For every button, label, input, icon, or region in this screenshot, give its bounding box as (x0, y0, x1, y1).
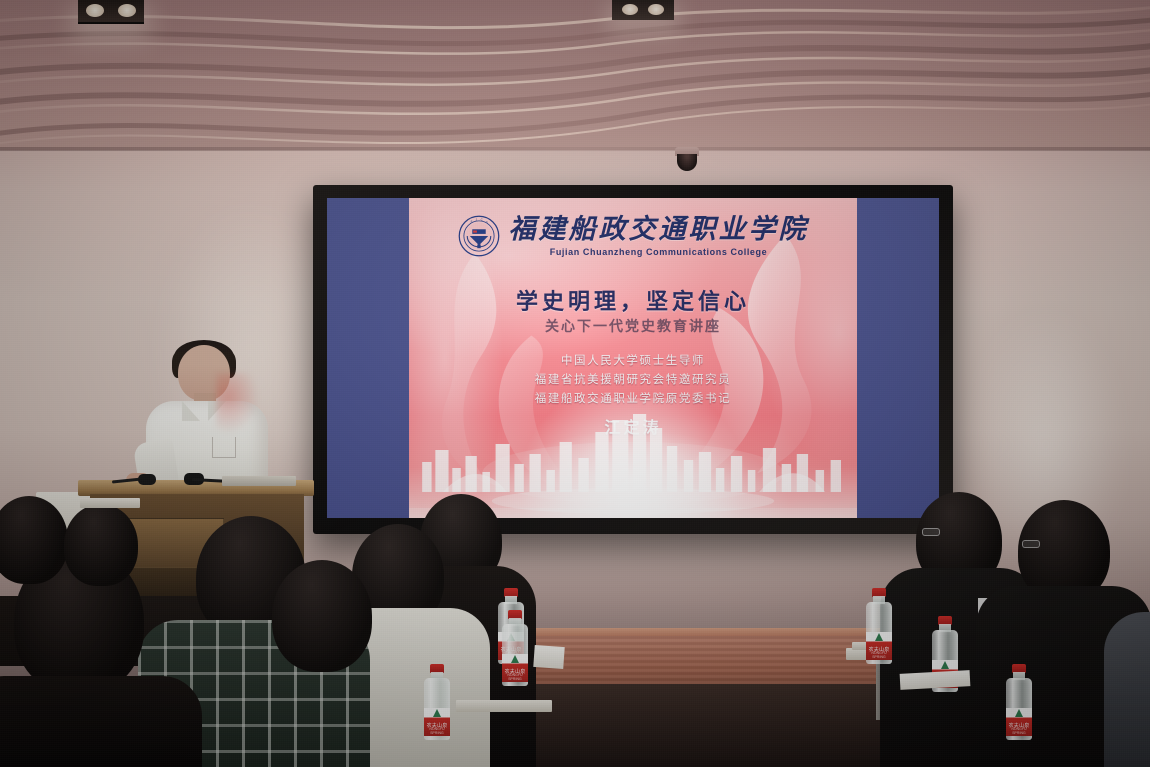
bottle-label: 农夫山泉 NONGFU SPRING (1006, 708, 1032, 736)
svg-text:F: F (470, 220, 472, 224)
presenter-collar-left (182, 401, 200, 421)
svg-text:C: C (480, 217, 482, 221)
bottle-label: 农夫山泉 NONGFU SPRING (424, 708, 450, 736)
college-name-english: Fujian Chuanzheng Communications College (550, 247, 768, 257)
svg-text:C: C (485, 220, 487, 224)
presentation-slide: FJ CC 福建船政交通职业学院 Fujian Chuanzheng Commu… (409, 198, 857, 518)
eyeglasses-icon (922, 528, 940, 536)
screen-surface: FJ CC 福建船政交通职业学院 Fujian Chuanzheng Commu… (327, 198, 939, 518)
water-bottle: 农夫山泉 NONGFU SPRING (424, 664, 450, 740)
mic-head (138, 474, 156, 485)
slide-main-title: 学史明理，坚定信心 (409, 284, 857, 316)
attendee-torso (0, 676, 202, 767)
camera-dome (677, 154, 697, 171)
laptop-on-lectern (222, 476, 296, 486)
attendee-head (64, 504, 138, 586)
gooseneck-microphone-icon (112, 474, 158, 486)
water-bottle: 农夫山泉 NONGFU SPRING (1006, 664, 1032, 740)
college-name-block: 福建船政交通职业学院 Fujian Chuanzheng Communicati… (509, 216, 809, 257)
eyeglasses-icon (1022, 540, 1040, 548)
led-display-screen[interactable]: FJ CC 福建船政交通职业学院 Fujian Chuanzheng Commu… (313, 185, 953, 534)
pillarbox-right (857, 198, 939, 518)
slide-header: FJ CC 福建船政交通职业学院 Fujian Chuanzheng Commu… (409, 215, 857, 257)
credit-line-1: 中国人民大学硕士生导师 (409, 352, 857, 371)
lecture-hall-photo: FJ CC 福建船政交通职业学院 Fujian Chuanzheng Commu… (0, 0, 1150, 767)
ceiling-spotlight-left-icon (78, 0, 144, 24)
slide-subtitle: 关心下一代党史教育讲座 (409, 316, 857, 336)
college-name-chinese: 福建船政交通职业学院 (509, 216, 809, 243)
nongfu-tree-icon (433, 709, 441, 717)
bottle-brand-en: NONGFU SPRING (1006, 727, 1032, 735)
credit-line-2: 福建省抗美援朝研究会特邀研究员 (409, 371, 857, 390)
student-desk (456, 700, 552, 712)
ceiling-wave-panels (0, 0, 1150, 150)
bottle-label: 农夫山泉 NONGFU SPRING (866, 632, 892, 660)
handout-paper (533, 645, 564, 669)
nongfu-tree-icon (941, 661, 949, 669)
pillarbox-left (327, 198, 409, 518)
ceiling-spotlight-center-icon (612, 0, 674, 20)
water-bottle: 农夫山泉 NONGFU SPRING (502, 610, 528, 686)
dome-camera-icon (672, 147, 702, 177)
skyline-center-glow (518, 398, 748, 518)
ceiling-wave-lines-icon (0, 0, 1150, 150)
attendee-torso (1104, 612, 1150, 767)
student-desk (80, 498, 140, 508)
attendee-head (272, 560, 372, 672)
college-seal-icon: FJ CC (458, 215, 500, 257)
ceiling-soffit-line (0, 147, 1150, 151)
bottle-brand-en: NONGFU SPRING (424, 727, 450, 735)
nongfu-tree-icon (511, 655, 519, 663)
presenter-shirt-pocket (212, 437, 236, 458)
bottle-brand-en: NONGFU SPRING (502, 673, 528, 681)
bottle-label: 农夫山泉 NONGFU SPRING (502, 654, 528, 682)
nongfu-tree-icon (1015, 709, 1023, 717)
nongfu-tree-icon (875, 633, 883, 641)
bottle-brand-en: NONGFU SPRING (866, 651, 892, 659)
red-light-flare (216, 373, 258, 433)
screen-bezel: FJ CC 福建船政交通职业学院 Fujian Chuanzheng Commu… (313, 185, 953, 534)
water-bottle: 农夫山泉 NONGFU SPRING (866, 588, 892, 664)
